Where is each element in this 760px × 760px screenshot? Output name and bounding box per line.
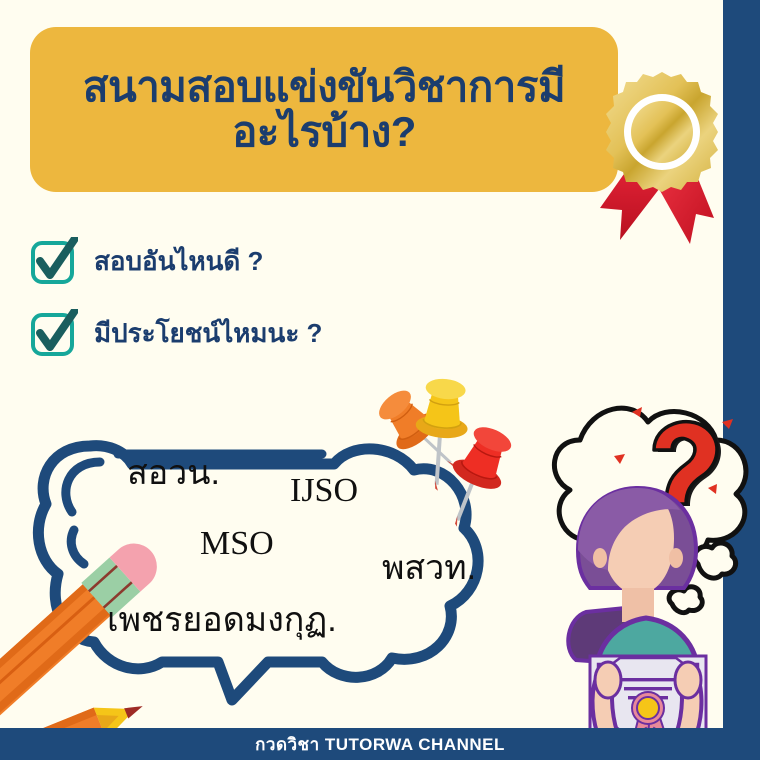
checklist-item-0[interactable]: สอบอันไหนดี ?: [30, 232, 322, 290]
header-box: สนามสอบแข่งขันวิชาการมี อะไรบ้าง?: [30, 27, 618, 192]
girl-figure: [568, 488, 706, 760]
footer-brand: กวดวิชา TUTORWA CHANNEL: [255, 731, 505, 758]
pushpin-group: [350, 355, 540, 545]
checklist-item-1[interactable]: มีประโยชน์ไหมนะ ?: [30, 304, 322, 362]
award-ribbon-icon: [592, 68, 732, 258]
checkbox-checked-icon[interactable]: [30, 309, 78, 357]
student-girl: [540, 360, 760, 760]
poster-canvas: สนามสอบแข่งขันวิชาการมี อะไรบ้าง?: [0, 0, 760, 760]
checkbox-checked-icon[interactable]: [30, 237, 78, 285]
checklist-label-0: สอบอันไหนดี ?: [94, 241, 263, 282]
footer-bar: กวดวิชา TUTORWA CHANNEL: [0, 728, 760, 760]
page-title: สนามสอบแข่งขันวิชาการมี อะไรบ้าง?: [69, 65, 579, 155]
checklist: สอบอันไหนดี ? มีประโยชน์ไหมนะ ?: [30, 232, 322, 376]
checklist-label-1: มีประโยชน์ไหมนะ ?: [94, 313, 322, 354]
